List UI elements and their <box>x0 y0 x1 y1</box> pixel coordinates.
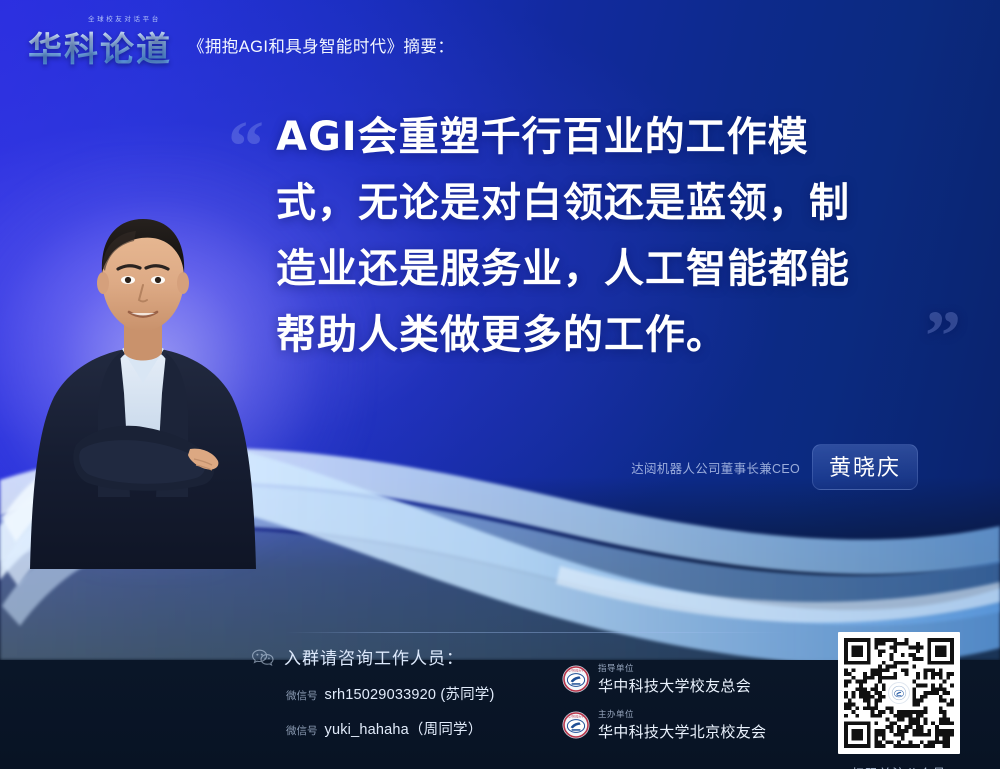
quote-close-mark: ” <box>925 300 958 372</box>
contact-title: 入群请咨询工作人员： <box>284 644 464 669</box>
qr-code-icon[interactable] <box>838 632 960 754</box>
logo-tagline: 全球校友对话平台 <box>88 13 161 23</box>
organization-label: 指导单位 <box>598 662 751 674</box>
university-seal-icon: 华中科技大学 <box>562 711 590 739</box>
quote-open-mark: “ <box>228 110 261 182</box>
quote-line: 帮助人类做更多的工作。” <box>276 302 952 368</box>
university-seal-icon: 华中科技大学 <box>562 665 590 693</box>
poster-canvas: 全球校友对话平台 华科论道 《拥抱AGI和具身智能时代》摘要： <box>0 0 1000 769</box>
svg-text:华中科技大学: 华中科技大学 <box>568 669 584 673</box>
footer-divider <box>286 632 786 633</box>
page-title: 《拥抱AGI和具身智能时代》摘要： <box>188 33 454 59</box>
wechat-label: 微信号 <box>286 723 318 738</box>
wechat-icon <box>252 649 274 667</box>
speaker-portrait <box>12 197 274 569</box>
organization-label: 主办单位 <box>598 708 766 720</box>
qr-center-logo <box>888 682 910 704</box>
quote-line: 造业还是服务业，人工智能都能 <box>276 236 952 302</box>
contact-row: 微信号 yuki_hahaha（周同学） <box>286 718 495 739</box>
organization-text: 主办单位 华中科技大学北京校友会 <box>598 708 766 742</box>
attribution: 达闼机器人公司董事长兼CEO 黄晓庆 <box>631 444 918 490</box>
qr-section: 扫码关注公众号 <box>838 632 960 769</box>
quote-block: “ AGI会重塑千行百业的工作模 式，无论是对白领还是蓝领，制 造业还是服务业，… <box>276 104 952 368</box>
organization-text: 指导单位 华中科技大学校友总会 <box>598 662 751 696</box>
svg-text:华中科技大学: 华中科技大学 <box>568 715 584 719</box>
organization-name: 华中科技大学校友总会 <box>598 675 751 696</box>
qr-caption: 扫码关注公众号 <box>838 763 960 769</box>
logo-wordmark: 华科论道 <box>28 22 172 71</box>
organization-name: 华中科技大学北京校友会 <box>598 721 766 742</box>
organization-row: 华中科技大学 主办单位 华中科技大学北京校友会 <box>562 708 766 742</box>
contact-row: 微信号 srh15029033920 (苏同学) <box>286 683 495 704</box>
header-bar: 全球校友对话平台 华科论道 《拥抱AGI和具身智能时代》摘要： <box>0 0 1000 92</box>
wechat-label: 微信号 <box>286 688 318 703</box>
brand-logo[interactable]: 全球校友对话平台 华科论道 <box>28 22 172 71</box>
contact-section: 入群请咨询工作人员： 微信号 srh15029033920 (苏同学) 微信号 … <box>252 644 495 739</box>
footer-bar: 入群请咨询工作人员： 微信号 srh15029033920 (苏同学) 微信号 … <box>0 640 1000 769</box>
contact-header: 入群请咨询工作人员： <box>252 644 495 669</box>
quote-line: 式，无论是对白领还是蓝领，制 <box>276 170 952 236</box>
quote-line: AGI会重塑千行百业的工作模 <box>276 104 952 170</box>
speaker-name-badge: 黄晓庆 <box>812 444 918 490</box>
wechat-id[interactable]: srh15029033920 (苏同学) <box>325 683 495 704</box>
speaker-role: 达闼机器人公司董事长兼CEO <box>631 458 800 477</box>
organizations-section: 华中科技大学 指导单位 华中科技大学校友总会 华中科技大学 主办单位 <box>562 662 766 754</box>
wechat-id[interactable]: yuki_hahaha（周同学） <box>325 718 483 739</box>
organization-row: 华中科技大学 指导单位 华中科技大学校友总会 <box>562 662 766 696</box>
